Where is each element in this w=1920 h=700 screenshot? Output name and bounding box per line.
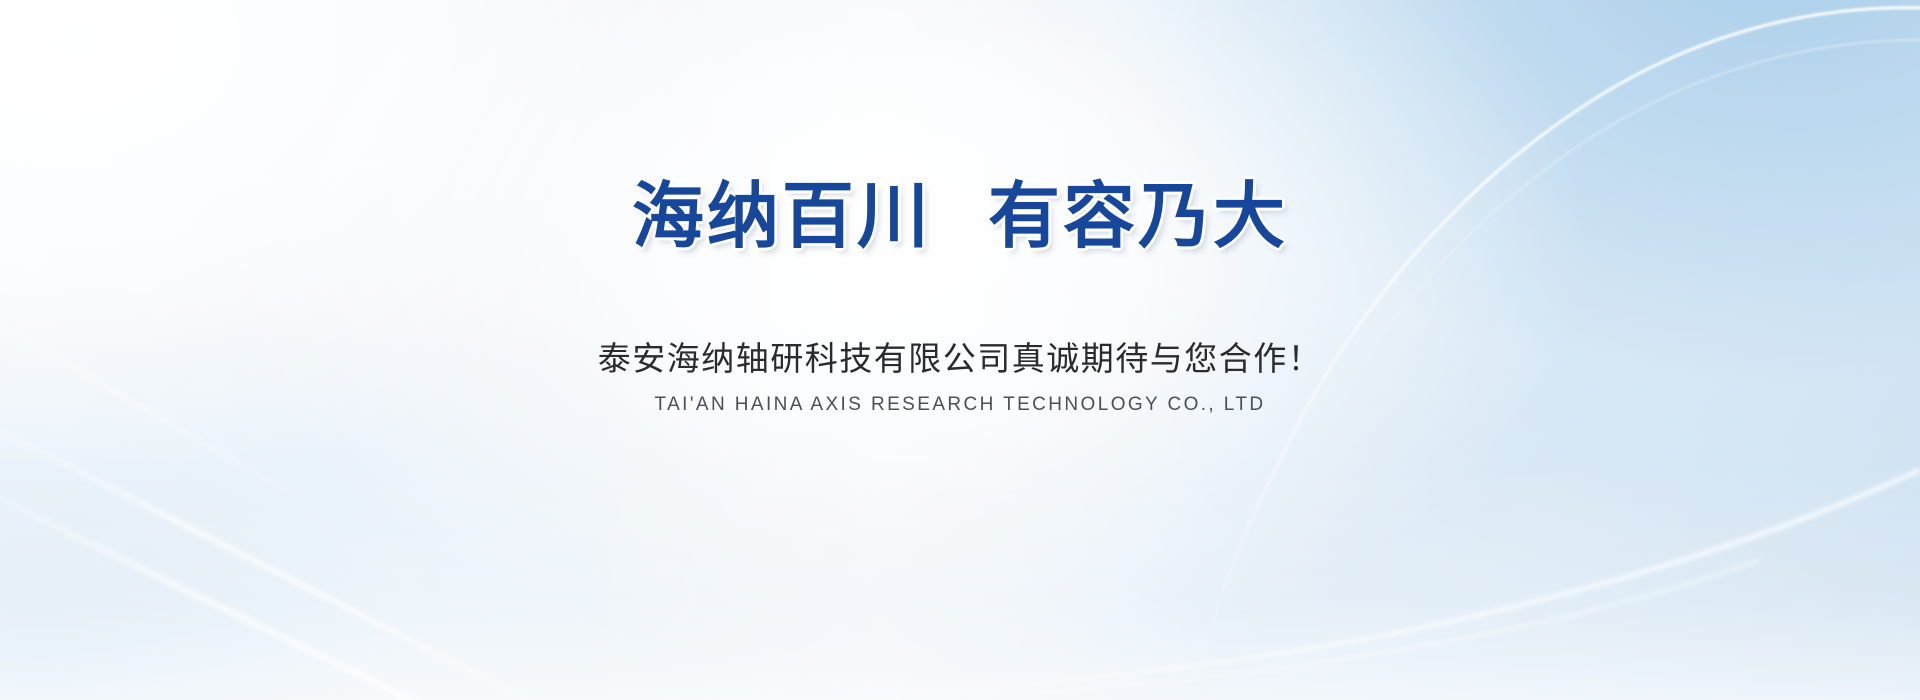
banner-content: 海纳百川 有容乃大 泰安海纳轴研科技有限公司真诚期待与您合作！ TAI'AN H…	[0, 0, 1920, 700]
banner-subtitle-english: TAI'AN HAINA AXIS RESEARCH TECHNOLOGY CO…	[655, 394, 1266, 416]
banner-subtitle-chinese: 泰安海纳轴研科技有限公司真诚期待与您合作！	[598, 332, 1323, 380]
banner-headline: 海纳百川 有容乃大	[632, 178, 1288, 256]
hero-banner: 海纳百川 有容乃大 泰安海纳轴研科技有限公司真诚期待与您合作！ TAI'AN H…	[0, 0, 1920, 700]
